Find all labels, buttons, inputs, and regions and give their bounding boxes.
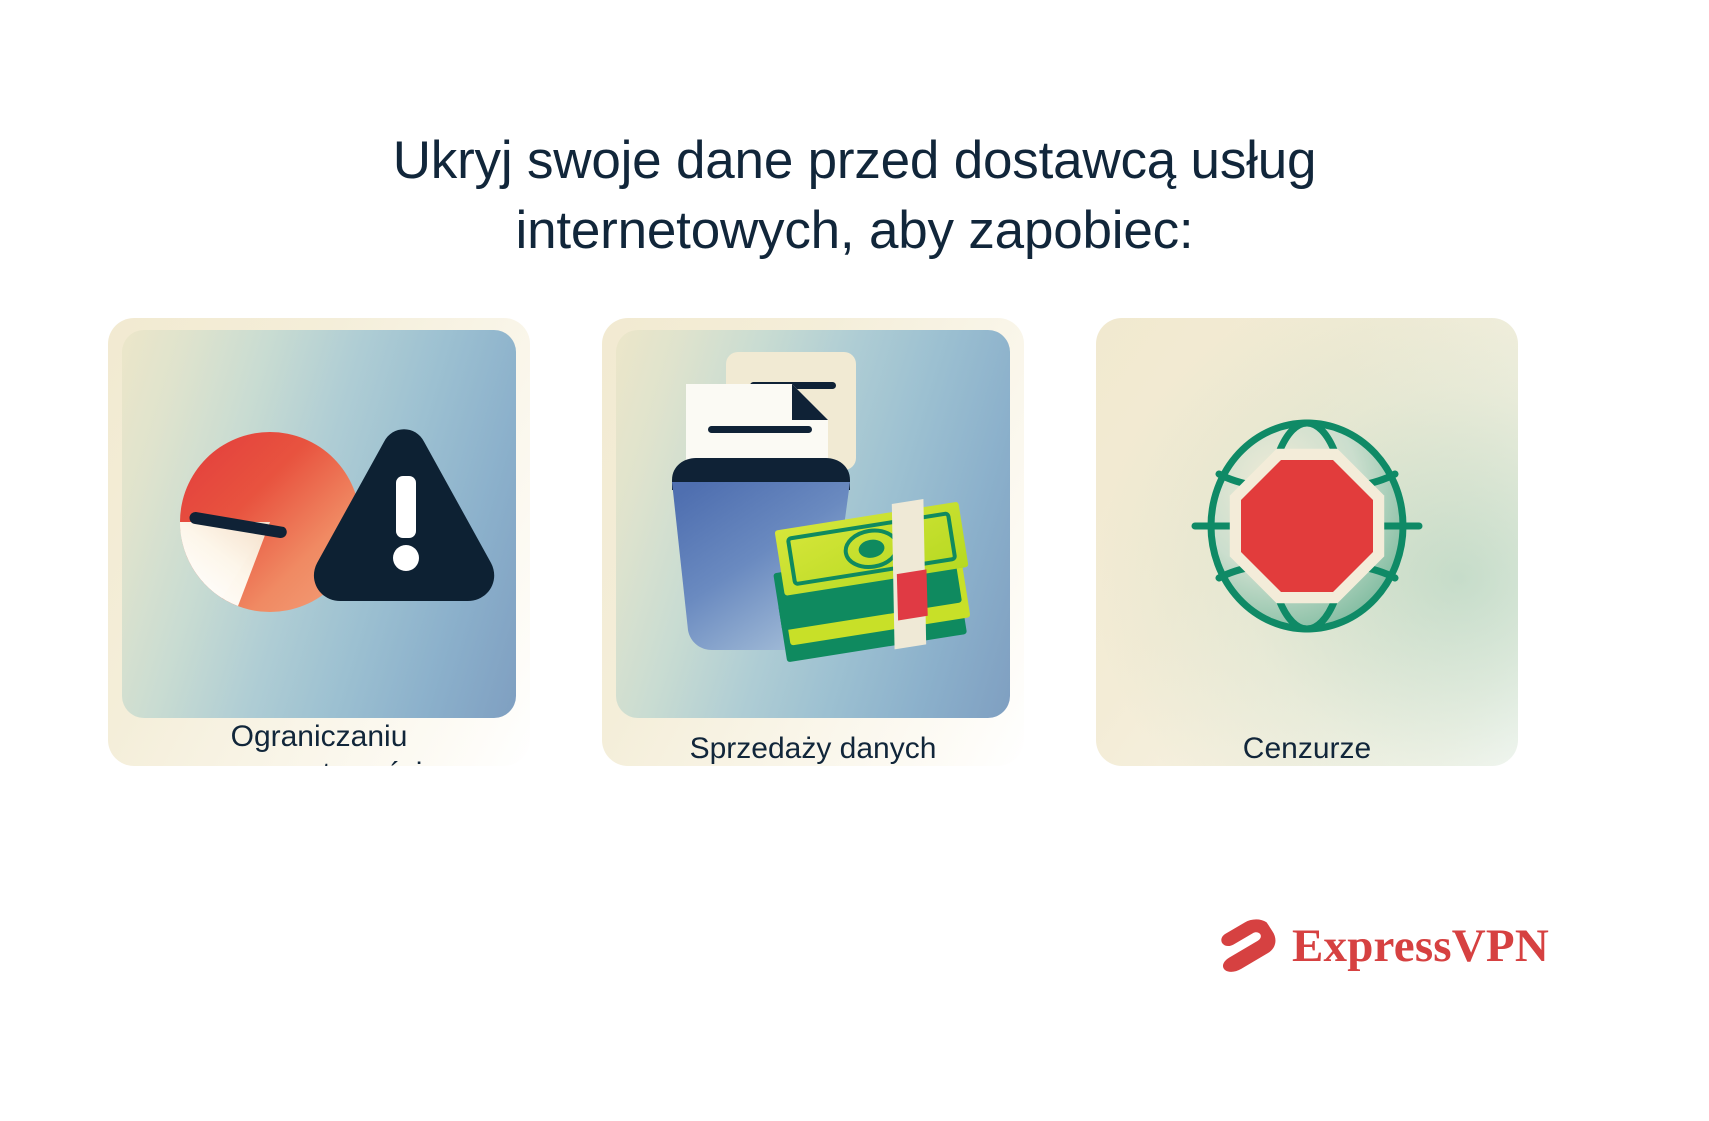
page-title-line-2: internetowych, aby zapobiec: [516, 201, 1194, 260]
expressvpn-wordmark: ExpressVPN [1292, 923, 1549, 970]
page-title: Ukryj swoje dane przed dostawcą usług in… [0, 126, 1709, 266]
page-title-line-1: Ukryj swoje dane przed dostawcą usług [393, 131, 1317, 190]
expressvpn-e-mark [1220, 919, 1278, 973]
benefit-cards-row: Ograniczaniu przepustowości [108, 318, 1518, 768]
card-label: Ograniczaniu przepustowości [108, 718, 530, 766]
globe-stop-sign-illustration [1110, 330, 1504, 718]
card-label: Cenzurze [1096, 730, 1518, 766]
card-image-panel [122, 330, 516, 718]
card-label: Sprzedaży danych [602, 730, 1024, 766]
card-label-line-2: przepustowości [216, 757, 423, 766]
speedometer-warning-illustration [122, 330, 516, 718]
card-label-line-1: Sprzedaży danych [690, 732, 937, 765]
card-censorship: Cenzurze [1096, 318, 1518, 766]
page-root: Ukryj swoje dane przed dostawcą usług in… [0, 0, 1709, 1121]
card-label-line-1: Ograniczaniu [231, 720, 408, 753]
card-label-line-1: Cenzurze [1243, 732, 1371, 765]
card-bandwidth-throttling: Ograniczaniu przepustowości [108, 318, 530, 766]
card-data-selling: Sprzedaży danych [602, 318, 1024, 766]
folder-documents-money-illustration [616, 330, 1010, 718]
expressvpn-logo: ExpressVPN [1220, 919, 1549, 973]
card-image-panel [616, 330, 1010, 718]
